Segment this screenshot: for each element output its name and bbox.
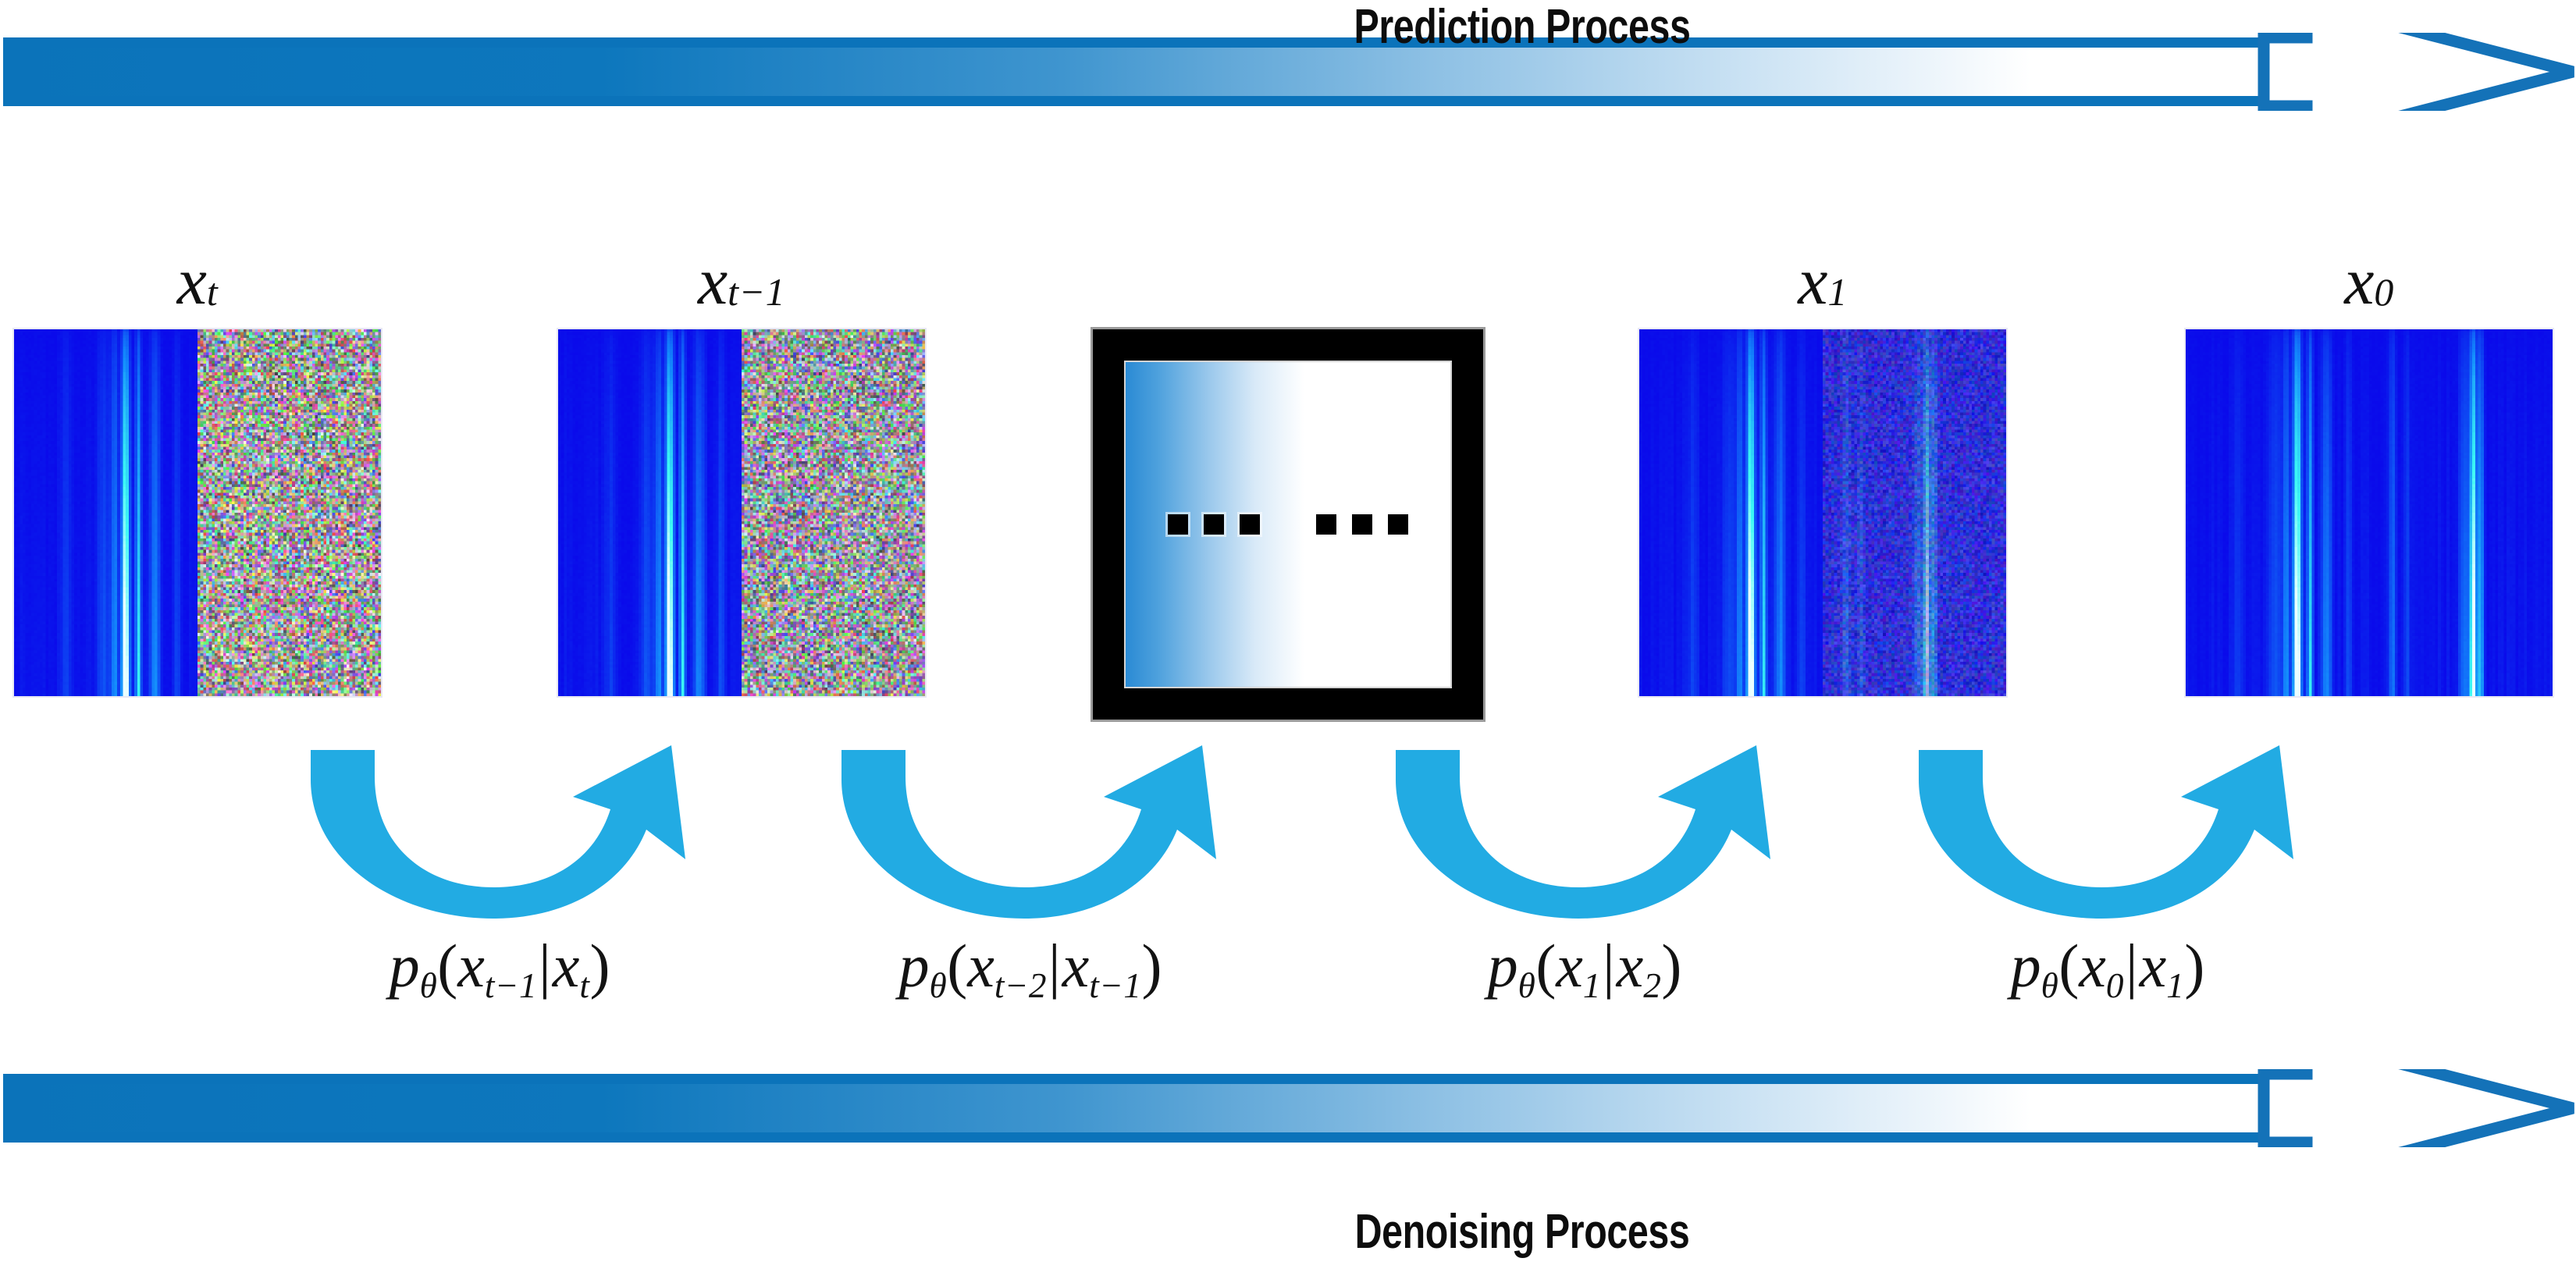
step-1-cond-base: x <box>553 932 580 1000</box>
curved-arrow-icon <box>1343 745 1827 933</box>
step-4-curved-arrow <box>1866 745 2350 933</box>
frame-x0-label-base: x <box>2344 242 2374 320</box>
step-2-cond-base: x <box>1062 932 1090 1000</box>
curved-arrow-icon <box>258 745 742 933</box>
step-1: pθ(xt−1|xt) <box>258 745 742 1057</box>
frame-xt-image <box>14 329 381 696</box>
step-2-formula-p: p <box>898 932 929 1000</box>
step-1-target-sub: t−1 <box>485 966 537 1005</box>
frame-x0-label: x0 <box>2186 234 2553 328</box>
step-3-target-sub: 1 <box>1583 966 1601 1005</box>
step-3-formula: pθ(x1|x2) <box>1343 931 1827 1001</box>
ellipsis-dot-group-1 <box>1160 514 1268 535</box>
denoising-process-title: Denoising Process <box>1096 1208 1948 1256</box>
frame-xt-1-label-base: x <box>698 242 728 320</box>
ellipsis-dot <box>1240 514 1260 535</box>
step-3: pθ(x1|x2) <box>1343 745 1827 1057</box>
step-1-target-base: x <box>457 932 485 1000</box>
ellipsis-dot <box>1316 514 1336 535</box>
step-2-target-sub: t−2 <box>994 966 1047 1005</box>
ellipsis-dot <box>1168 514 1188 535</box>
step-1-formula: pθ(xt−1|xt) <box>258 931 742 1001</box>
step-3-formula-theta: θ <box>1518 966 1536 1005</box>
denoising-process-arrow <box>0 1069 2576 1147</box>
step-1-cond-sub: t <box>579 966 589 1005</box>
step-4-formula-theta: θ <box>2041 966 2059 1005</box>
step-3-curved-arrow <box>1343 745 1827 933</box>
step-2: pθ(xt−2|xt−1) <box>788 745 1272 1057</box>
frame-x0: x0 <box>2186 234 2553 749</box>
step-2-cond-sub: t−1 <box>1089 966 1141 1005</box>
step-1-formula-theta: θ <box>420 966 438 1005</box>
curved-arrow-icon <box>1866 745 2350 933</box>
frame-x1: x1 <box>1639 234 2006 749</box>
step-4-formula-p: p <box>2011 932 2041 1000</box>
step-3-target-base: x <box>1556 932 1583 1000</box>
frame-x1-label: x1 <box>1639 234 2006 328</box>
frame-xt-1-label: xt−1 <box>558 234 925 328</box>
step-2-curved-arrow <box>788 745 1272 933</box>
frame-x1-label-base: x <box>1798 242 1827 320</box>
ellipsis-dot-group-2 <box>1308 514 1416 535</box>
step-4-cond-sub: 1 <box>2166 966 2184 1005</box>
ellipsis-box <box>1093 329 1483 720</box>
step-4-formula: pθ(x0|x1) <box>1866 931 2350 1001</box>
frame-x0-label-sub: 0 <box>2374 270 2393 315</box>
frame-x1-image <box>1639 329 2006 696</box>
step-1-formula-p: p <box>390 932 420 1000</box>
step-2-formula: pθ(xt−2|xt−1) <box>788 931 1272 1001</box>
curved-arrow-icon <box>788 745 1272 933</box>
step-3-cond-sub: 2 <box>1643 966 1661 1005</box>
diagram-canvas: Prediction Process xt xt−1 x1 <box>0 0 2576 1283</box>
step-3-formula-p: p <box>1488 932 1518 1000</box>
frame-x0-image <box>2186 329 2553 696</box>
frame-x1-label-sub: 1 <box>1827 270 1847 315</box>
frame-xt-label-sub: t <box>207 270 218 315</box>
frame-xt-label: xt <box>14 234 381 328</box>
ellipsis-dot <box>1204 514 1224 535</box>
step-4: pθ(x0|x1) <box>1866 745 2350 1057</box>
frame-xt-1: xt−1 <box>558 234 925 749</box>
frame-xt-label-base: x <box>177 242 207 320</box>
step-3-cond-base: x <box>1617 932 1644 1000</box>
frame-xt: xt <box>14 234 381 749</box>
denoising-arrow-shape <box>0 1069 2576 1147</box>
ellipsis-dot <box>1388 514 1408 535</box>
step-4-target-base: x <box>2079 932 2106 1000</box>
step-4-target-sub: 0 <box>2106 966 2124 1005</box>
frame-xt-1-image <box>558 329 925 696</box>
step-2-target-base: x <box>967 932 994 1000</box>
prediction-process-title: Prediction Process <box>1096 3 1948 52</box>
ellipsis-gradient-panel <box>1126 362 1450 687</box>
frame-xt-1-label-sub: t−1 <box>728 270 785 315</box>
step-4-cond-base: x <box>2140 932 2167 1000</box>
step-1-curved-arrow <box>258 745 742 933</box>
ellipsis-dot <box>1352 514 1372 535</box>
step-2-formula-theta: θ <box>929 966 947 1005</box>
